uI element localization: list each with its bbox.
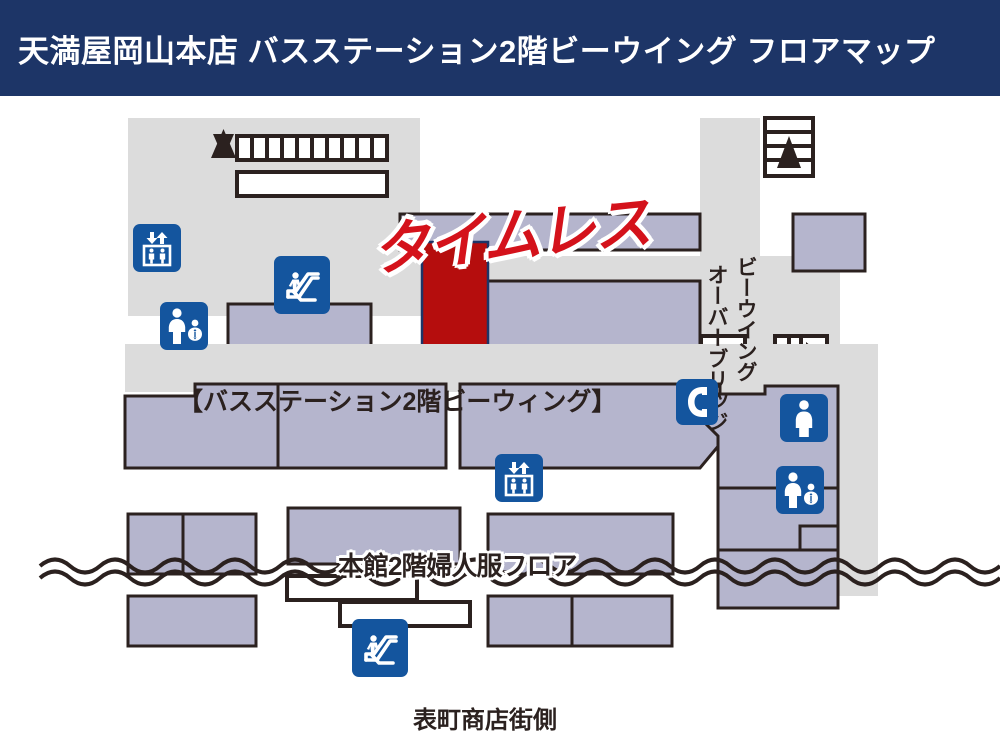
label-honkan-floor: 本館2階婦人服フロア [338,546,576,583]
stairs-glyph-top-right [765,118,813,176]
escalator-icon[interactable] [274,256,330,314]
floor-map-canvas: 【バスステーション2階ビーウィング】 本館2階婦人服フロア 表町商店街側 ビーウ… [0,96,1000,656]
page-title: 天満屋岡山本店 バスステーション2階ビーウイング フロアマップ [0,26,935,71]
escalator-icon-lower[interactable] [352,619,408,677]
nursing-room-icon[interactable] [160,302,208,350]
elevator-icon-lower[interactable] [495,454,543,502]
lower-floor-stores [125,384,838,646]
page-header: 天満屋岡山本店 バスステーション2階ビーウイング フロアマップ [0,0,1000,96]
nursing-room-icon-right[interactable] [776,466,824,514]
telephone-icon[interactable] [676,379,718,425]
floor-map-page: 天満屋岡山本店 バスステーション2階ビーウイング フロアマップ [0,0,1000,656]
label-omotecho: 表町商店街側 [413,700,557,735]
mens-restroom-icon[interactable] [780,394,828,442]
label-bus-station: 【バスステーション2階ビーウィング】 [178,382,616,418]
elevator-icon[interactable] [133,224,181,272]
label-beewing-vertical: ビーウイング [735,256,756,382]
